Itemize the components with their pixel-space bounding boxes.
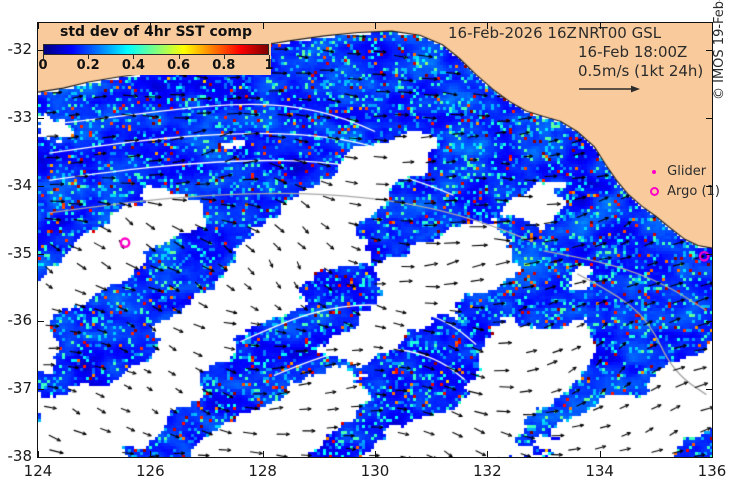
y-axis-tick bbox=[38, 389, 44, 390]
copyright-notice: © IMOS 19-Feb-2026 15:28 Hobart; Tscale=… bbox=[712, 0, 727, 100]
x-axis-tick bbox=[38, 451, 39, 457]
colorbar: std dev of 4hr SST comp 00.20.40.60.81 bbox=[41, 23, 271, 75]
y-axis-tick-label: -33 bbox=[0, 110, 32, 125]
y-axis-tick-label: -32 bbox=[0, 42, 32, 57]
x-axis-tick bbox=[375, 23, 376, 29]
observation-timestamp: 16-Feb-2026 16Z bbox=[448, 24, 577, 42]
model-time: 16-Feb 18:00Z bbox=[578, 43, 703, 62]
y-axis-tick-label: -37 bbox=[0, 381, 32, 396]
colorbar-tick-label: 0.8 bbox=[204, 58, 244, 73]
model-annotation-block: NRT00 GSL 16-Feb 18:00Z 0.5m/s (1kt 24h) bbox=[578, 24, 703, 81]
y-axis-tick bbox=[38, 457, 44, 458]
x-axis-tick bbox=[600, 451, 601, 457]
y-axis-tick-label: -35 bbox=[0, 246, 32, 261]
colorbar-tick-label: 1 bbox=[249, 58, 289, 73]
model-name: NRT00 GSL bbox=[578, 24, 703, 43]
colorbar-tick-label: 0.2 bbox=[68, 58, 108, 73]
colorbar-gradient bbox=[43, 44, 269, 55]
x-axis-tick-label: 124 bbox=[8, 464, 68, 479]
y-axis-tick bbox=[38, 186, 44, 187]
y-axis-tick bbox=[38, 321, 44, 322]
y-axis-tick bbox=[706, 457, 712, 458]
vector-scale-label: 0.5m/s (1kt 24h) bbox=[578, 62, 703, 81]
marker-legend: Glider Argo (1) bbox=[645, 162, 720, 202]
x-axis-tick-label: 130 bbox=[345, 464, 405, 479]
y-axis-tick bbox=[706, 321, 712, 322]
y-axis-tick bbox=[38, 50, 44, 51]
x-axis-tick bbox=[263, 451, 264, 457]
y-axis-tick bbox=[706, 254, 712, 255]
y-axis-tick-label: -36 bbox=[0, 313, 32, 328]
argo-ring-marker-icon bbox=[645, 182, 663, 202]
glider-dot-marker-icon bbox=[645, 162, 663, 182]
y-axis-tick bbox=[706, 389, 712, 390]
x-axis-tick bbox=[375, 451, 376, 457]
x-axis-tick bbox=[263, 23, 264, 29]
colorbar-tick-label: 0.4 bbox=[113, 58, 153, 73]
oceancurrent-map-figure: std dev of 4hr SST comp 00.20.40.60.81 1… bbox=[0, 0, 750, 496]
legend-label-glider: Glider bbox=[667, 162, 706, 182]
colorbar-tick-label: 0.6 bbox=[159, 58, 199, 73]
vector-scale-arrow-icon bbox=[578, 84, 640, 94]
x-axis-tick bbox=[150, 451, 151, 457]
y-axis-tick bbox=[706, 118, 712, 119]
x-axis-tick bbox=[150, 23, 151, 29]
y-axis-tick bbox=[706, 50, 712, 51]
y-axis-tick bbox=[706, 186, 712, 187]
y-axis-tick bbox=[38, 254, 44, 255]
y-axis-tick-label: -34 bbox=[0, 178, 32, 193]
x-axis-tick bbox=[38, 23, 39, 29]
x-axis-tick bbox=[487, 451, 488, 457]
x-axis-tick-label: 126 bbox=[120, 464, 180, 479]
x-axis-tick-label: 134 bbox=[570, 464, 630, 479]
x-axis-tick-label: 132 bbox=[457, 464, 517, 479]
y-axis-tick bbox=[38, 118, 44, 119]
colorbar-tick-label: 0 bbox=[23, 58, 63, 73]
colorbar-title: std dev of 4hr SST comp bbox=[41, 24, 271, 41]
x-axis-tick bbox=[600, 23, 601, 29]
x-axis-tick bbox=[712, 23, 713, 29]
x-axis-tick bbox=[712, 451, 713, 457]
x-axis-tick-label: 136 bbox=[682, 464, 742, 479]
x-axis-tick-label: 128 bbox=[233, 464, 293, 479]
x-axis-tick bbox=[487, 23, 488, 29]
legend-item-glider: Glider bbox=[645, 162, 720, 182]
